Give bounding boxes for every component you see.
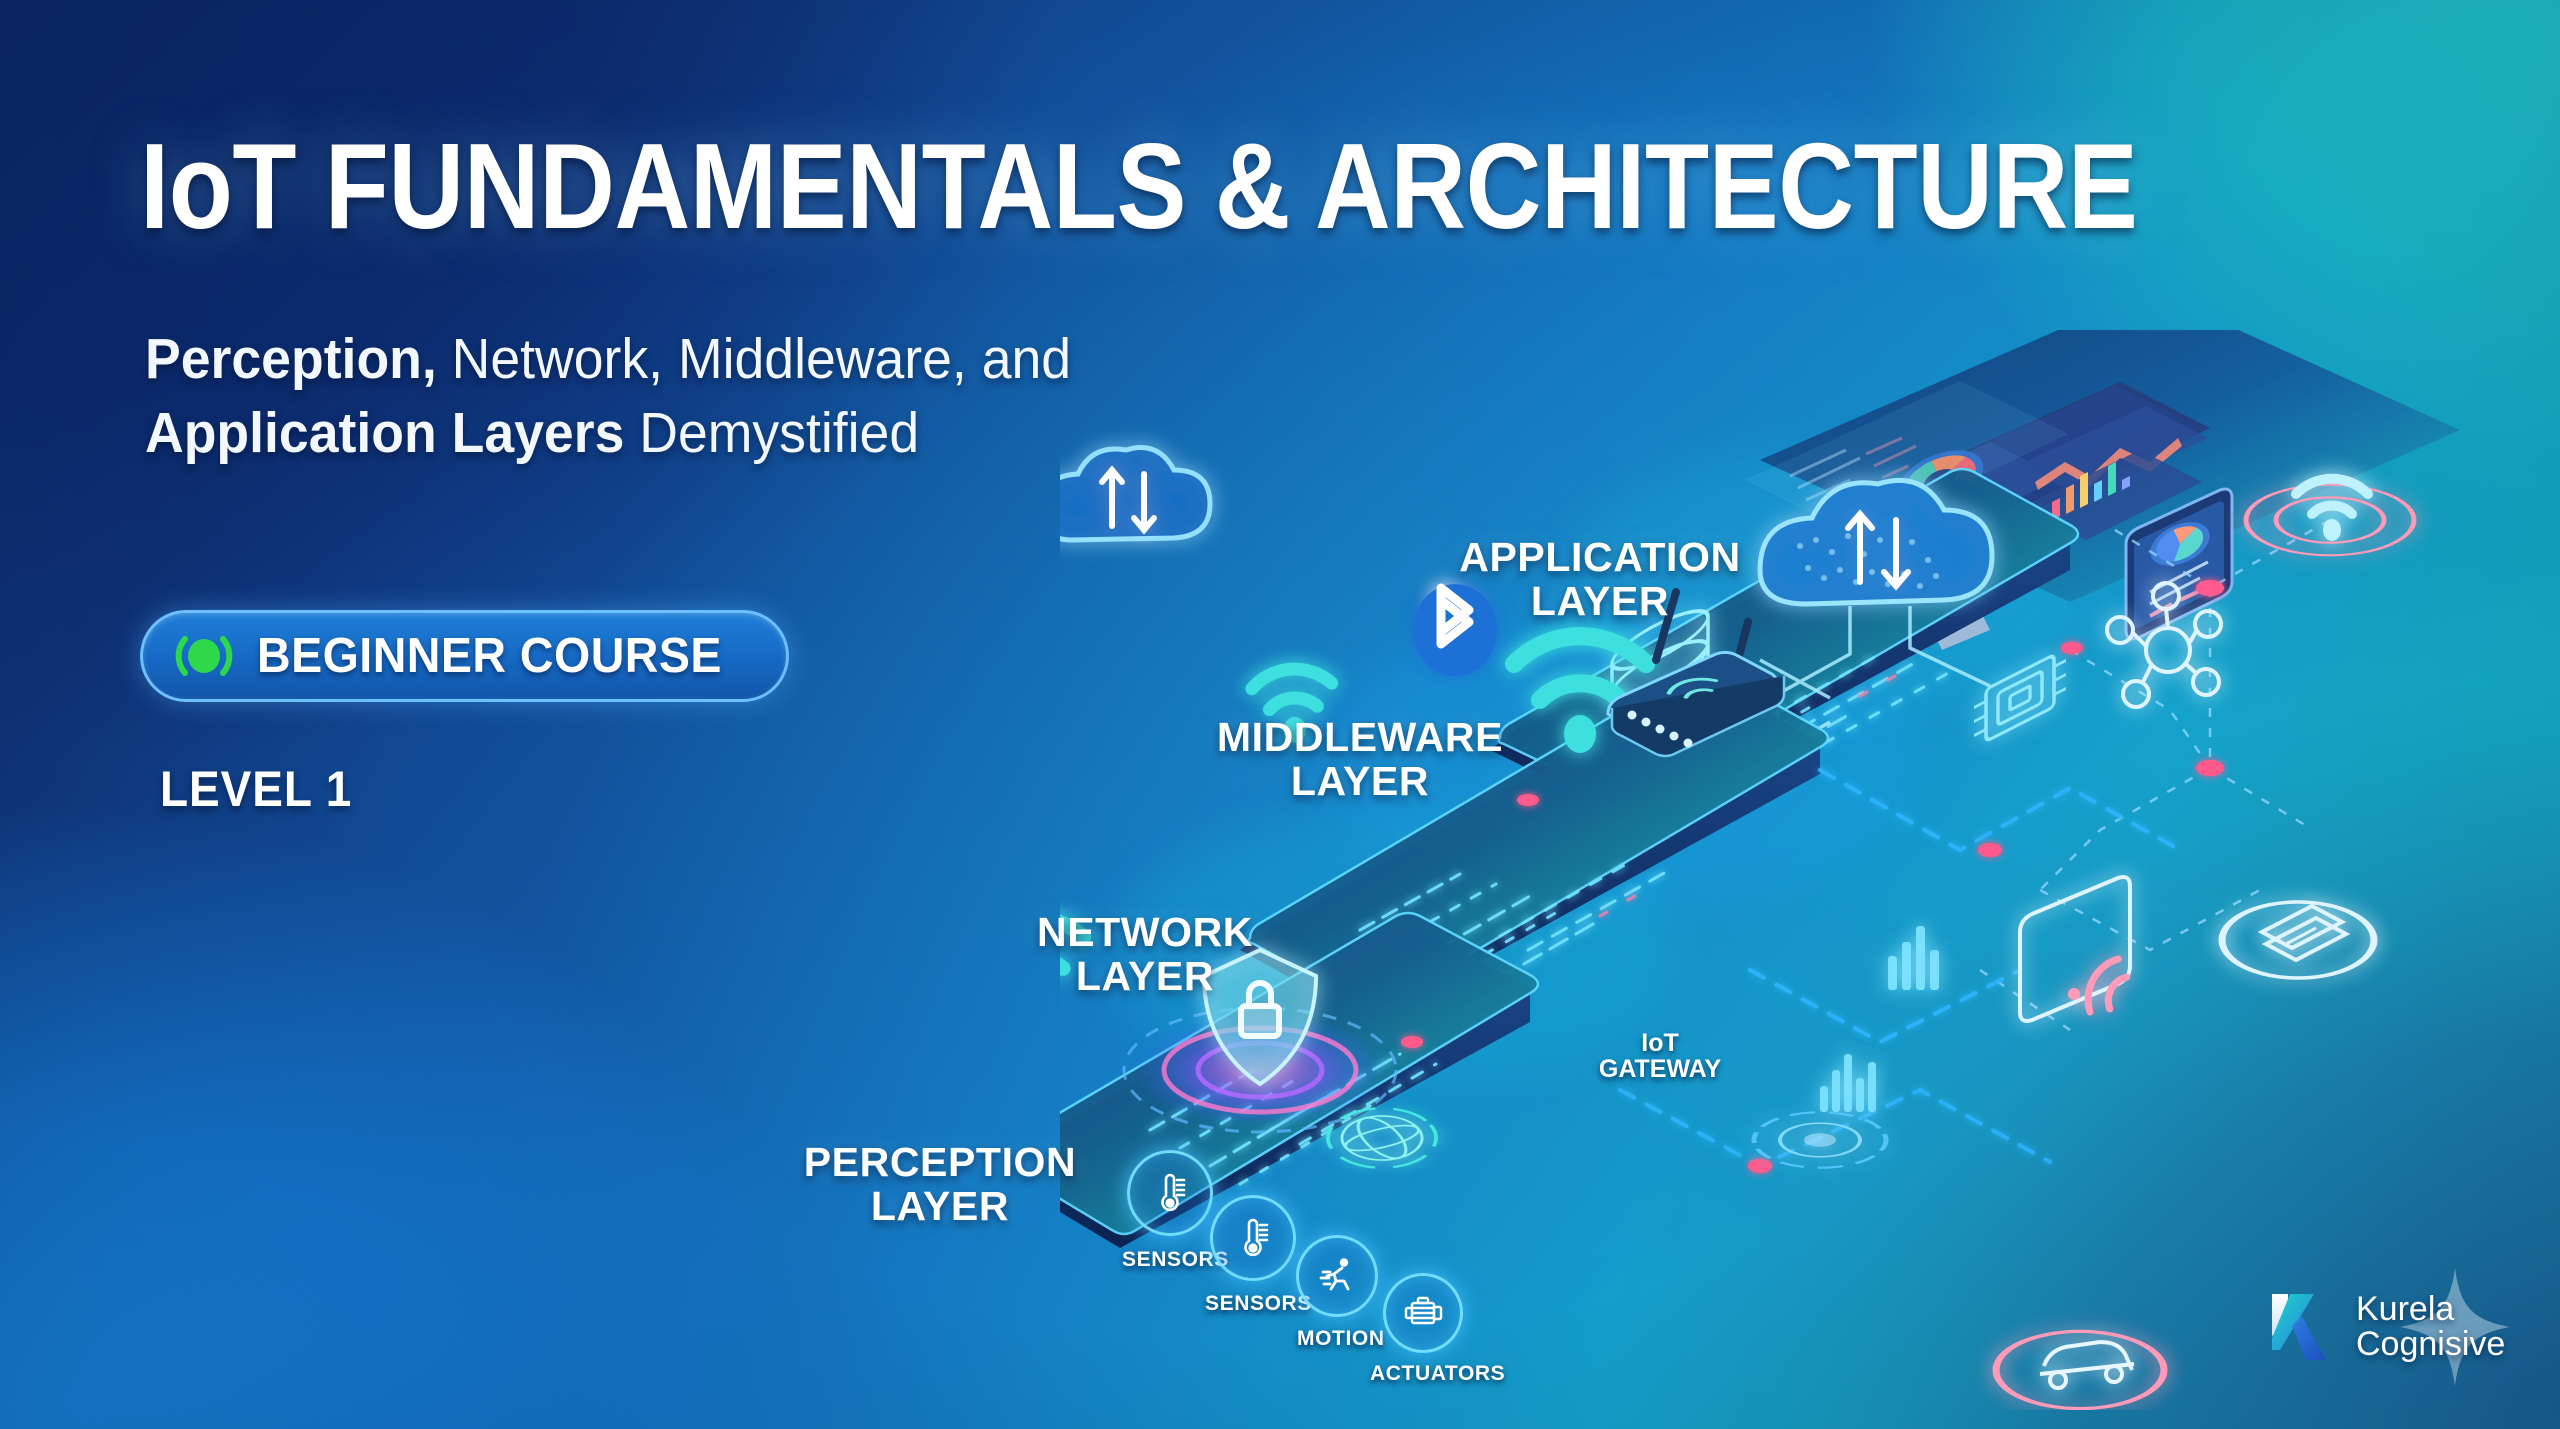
page-subtitle-line-1-emphasis: Perception, <box>145 327 437 391</box>
iot-gateway-caption-line2: GATEWAY <box>1599 1055 1721 1083</box>
brand-logo-line1: Kurela <box>2356 1292 2505 1327</box>
level-label: LEVEL 1 <box>160 760 352 818</box>
brand-logo-line2: Cognisive <box>2356 1327 2505 1362</box>
layer-label-middleware: MIDDLEWARE LAYER <box>1195 715 1525 804</box>
page-subtitle-line-1-rest: Network, Middleware, and <box>437 327 1071 391</box>
thermometer-icon <box>1231 1216 1275 1260</box>
poster-canvas: SENSORS SENSORS MOTION <box>0 0 2560 1429</box>
iot-gateway-caption-line1: IoT <box>1641 1029 1679 1057</box>
perception-chip-motion[interactable] <box>1296 1235 1378 1317</box>
perception-chip-label-motion: MOTION <box>1297 1327 1385 1351</box>
screen-cast-icon <box>2020 877 2132 1021</box>
page-subtitle-line-1: Perception, Network, Middleware, and <box>145 322 1367 396</box>
page-subtitle-line-2: Application Layers Demystified <box>145 396 1367 470</box>
page-subtitle: Perception, Network, Middleware, and App… <box>145 322 1367 470</box>
iot-gateway-caption: IoT GATEWAY <box>1565 1030 1755 1083</box>
perception-chip-sensors-1[interactable] <box>1127 1150 1213 1236</box>
motor-icon <box>1400 1290 1446 1336</box>
broadcast-dot-icon <box>173 630 235 682</box>
brand-logo[interactable]: Kurela Cognisive <box>2270 1288 2505 1366</box>
layer-label-network: NETWORK LAYER <box>1015 910 1275 999</box>
layer-label-perception: PERCEPTION LAYER <box>790 1140 1090 1229</box>
course-level-badge-label: BEGINNER COURSE <box>257 628 722 684</box>
hologram-ring <box>1754 1112 1886 1167</box>
kurela-k-mark-icon <box>2270 1288 2340 1366</box>
thermometer-icon <box>1148 1171 1192 1215</box>
card-stack-icon <box>2222 902 2374 978</box>
page-subtitle-line-2-emphasis: Application Layers <box>145 401 624 465</box>
brand-logo-text: Kurela Cognisive <box>2356 1292 2505 1363</box>
page-subtitle-line-2-rest: Demystified <box>624 401 919 465</box>
perception-chip-label-actuators: ACTUATORS <box>1370 1362 1505 1386</box>
layer-label-application: APPLICATION LAYER <box>1435 535 1765 624</box>
page-title: IoT FUNDAMENTALS & ARCHITECTURE <box>140 128 1361 245</box>
course-level-badge[interactable]: BEGINNER COURSE <box>140 610 789 702</box>
running-person-icon <box>1315 1254 1359 1298</box>
perception-chip-actuators[interactable] <box>1383 1273 1463 1353</box>
car-icon <box>1996 1331 2164 1408</box>
perception-chip-label-sensors-2: SENSORS <box>1205 1292 1312 1316</box>
perception-chip-sensors-2[interactable] <box>1210 1195 1296 1281</box>
